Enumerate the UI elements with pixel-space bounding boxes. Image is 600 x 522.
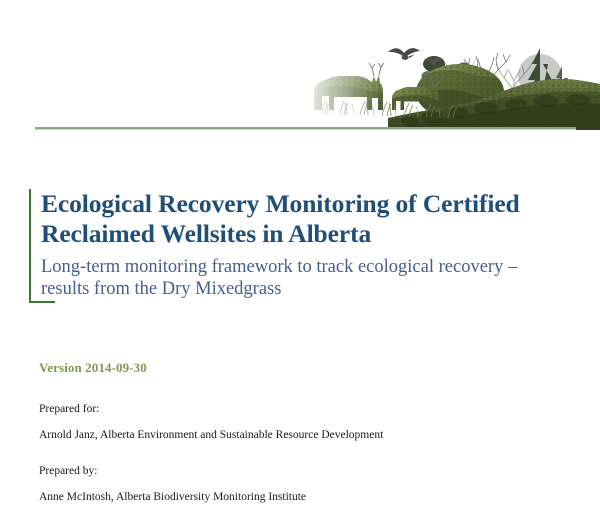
title-line-1: Ecological Recovery Monitoring of Certif… (41, 189, 520, 218)
title-block: Ecological Recovery Monitoring of Certif… (29, 189, 574, 301)
prepared-by-value: Anne McIntosh, Alberta Biodiversity Moni… (39, 492, 559, 504)
header-divider-rule (35, 127, 576, 129)
prepared-by-group: Prepared by: Anne McIntosh, Alberta Biod… (39, 466, 559, 503)
version-label: Version 2014-09-30 (39, 360, 147, 376)
page-title: Ecological Recovery Monitoring of Certif… (41, 189, 574, 250)
subtitle-line-2: results from the Dry Mixedgrass (41, 279, 281, 299)
prepared-by-label: Prepared by: (39, 466, 559, 478)
credits-block: Prepared for: Arnold Janz, Alberta Envir… (39, 404, 559, 503)
prepared-for-value: Arnold Janz, Alberta Environment and Sus… (39, 430, 559, 442)
page-subtitle: Long-term monitoring framework to track … (41, 256, 574, 301)
prepared-for-group: Prepared for: Arnold Janz, Alberta Envir… (39, 404, 559, 441)
title-line-2: Reclaimed Wellsites in Alberta (41, 219, 371, 248)
header-banner-image (300, 18, 600, 130)
prepared-for-label: Prepared for: (39, 404, 559, 416)
subtitle-line-1: Long-term monitoring framework to track … (41, 257, 517, 277)
document-page: Ecological Recovery Monitoring of Certif… (0, 0, 600, 522)
